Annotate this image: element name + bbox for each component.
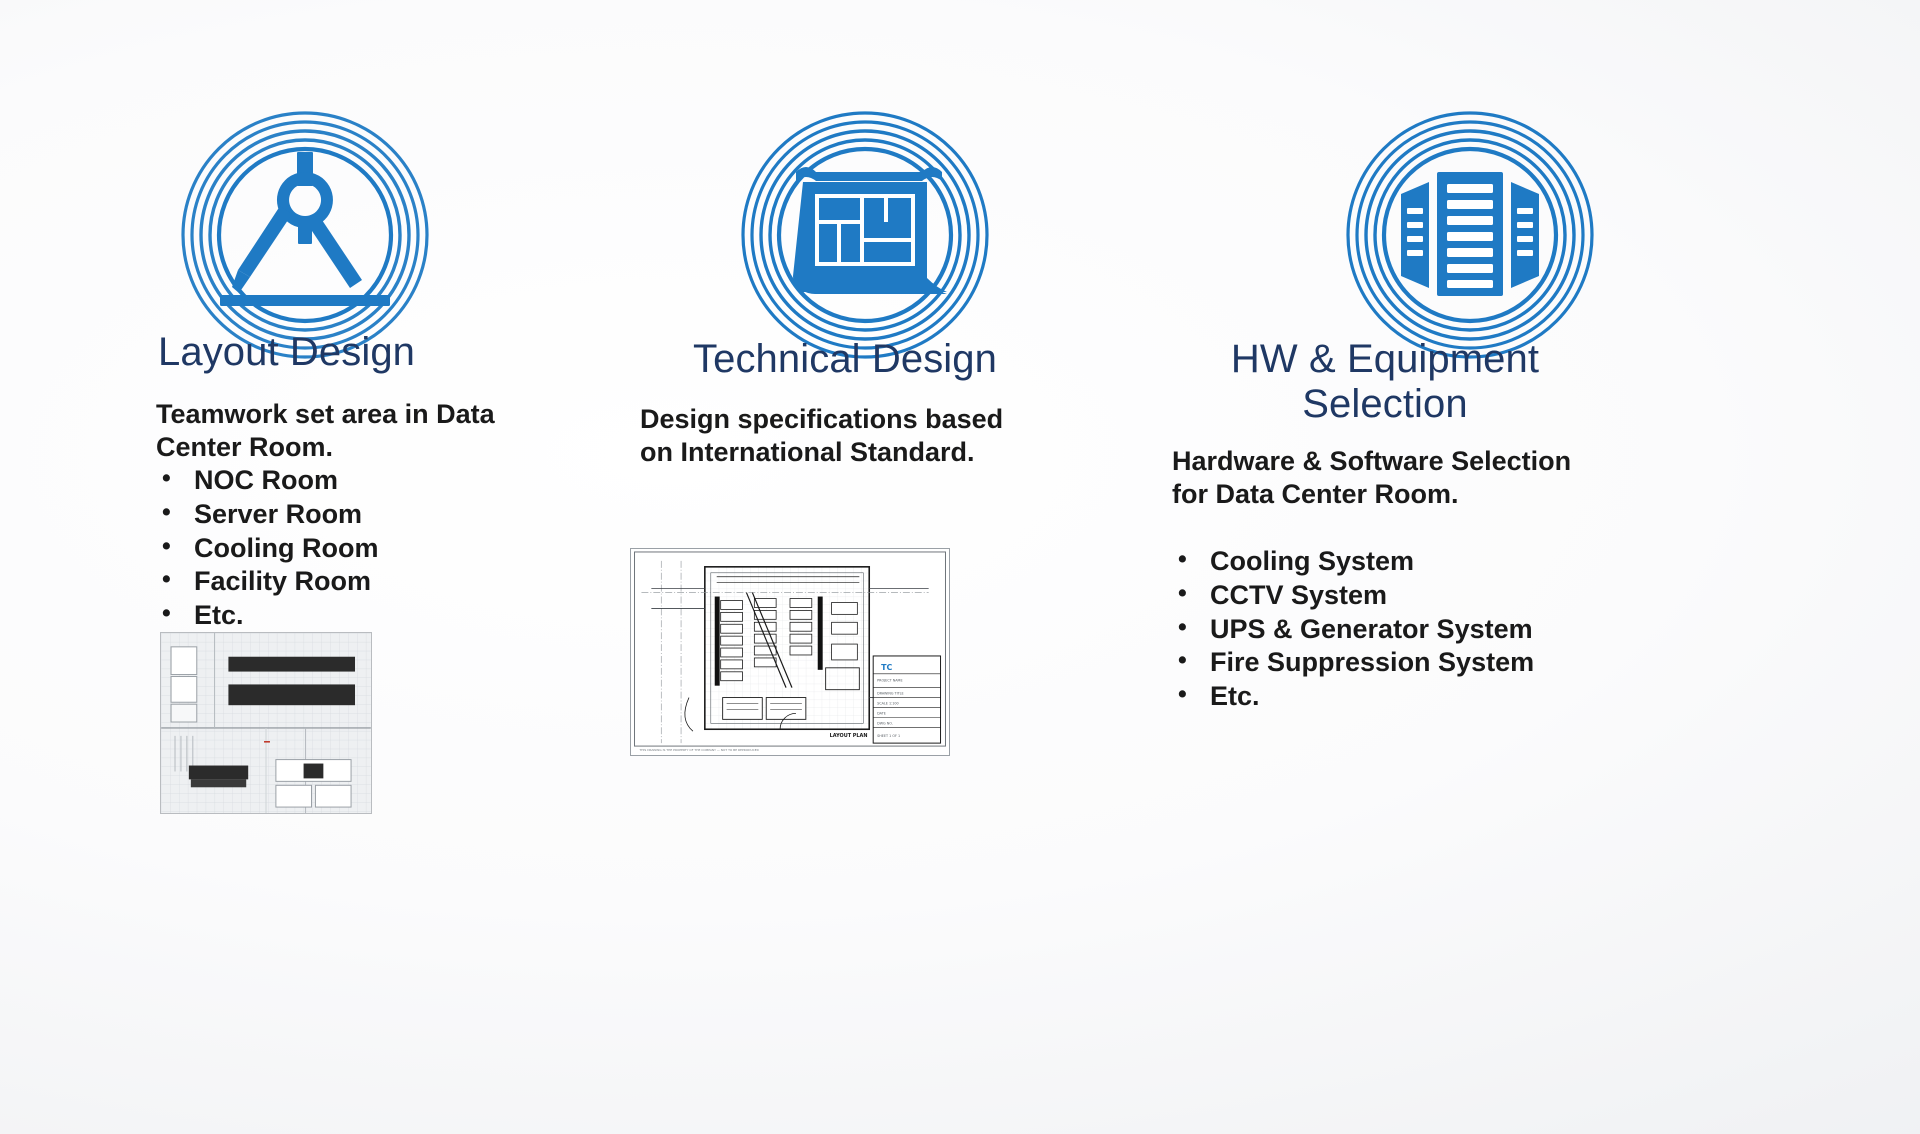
svg-text:SCALE 1:100: SCALE 1:100	[877, 701, 899, 705]
svg-text:PROJECT NAME: PROJECT NAME	[877, 679, 902, 683]
slide-canvas: Layout Design Teamwork set area in Data …	[0, 0, 1920, 1134]
bullet-list-hw-equipment-selection: Cooling System CCTV System UPS & Generat…	[1168, 545, 1608, 714]
column-description-hw-equipment-selection: Hardware & Software Selection for Data C…	[1172, 445, 1592, 511]
list-item: Fire Suppression System	[1168, 646, 1608, 680]
list-item: Facility Room	[152, 565, 562, 599]
svg-text:DATE: DATE	[877, 711, 886, 715]
column-heading-technical-design: Technical Design	[630, 337, 1060, 382]
svg-text:THIS DRAWING IS THE PROPERTY O: THIS DRAWING IS THE PROPERTY OF THE COMP…	[638, 748, 759, 752]
list-item: Etc.	[152, 599, 562, 633]
list-item: Server Room	[152, 498, 562, 532]
svg-text:DRAWING TITLE: DRAWING TITLE	[877, 692, 904, 696]
server-racks-icon	[1345, 110, 1595, 360]
column-heading-layout-design: Layout Design	[150, 330, 570, 375]
column-heading-hw-equipment-selection: HW & Equipment Selection	[1160, 337, 1610, 427]
list-item: UPS & Generator System	[1168, 613, 1608, 647]
list-item: CCTV System	[1168, 579, 1608, 613]
svg-text:DWG NO.: DWG NO.	[877, 721, 893, 725]
blueprint-icon	[740, 110, 990, 360]
svg-text:SHEET 1 OF 1: SHEET 1 OF 1	[877, 734, 900, 738]
bullet-list-layout-design: NOC Room Server Room Cooling Room Facili…	[152, 464, 562, 633]
svg-text:LAYOUT PLAN: LAYOUT PLAN	[830, 733, 868, 739]
list-item: NOC Room	[152, 464, 562, 498]
column-description-layout-design: Teamwork set area in Data Center Room.	[156, 398, 556, 464]
column-description-technical-design: Design specifications based on Internati…	[640, 403, 1040, 469]
list-item: Cooling System	[1168, 545, 1608, 579]
technical-floor-plan-drawing-thumbnail: TC PROJECT NAME DRAWING TITLE SCALE 1:10…	[630, 548, 950, 756]
list-item: Cooling Room	[152, 532, 562, 566]
list-item: Etc.	[1168, 680, 1608, 714]
compass-divider-icon	[180, 110, 430, 360]
data-center-floor-layout-thumbnail	[160, 632, 372, 814]
svg-text:TC: TC	[881, 663, 892, 672]
